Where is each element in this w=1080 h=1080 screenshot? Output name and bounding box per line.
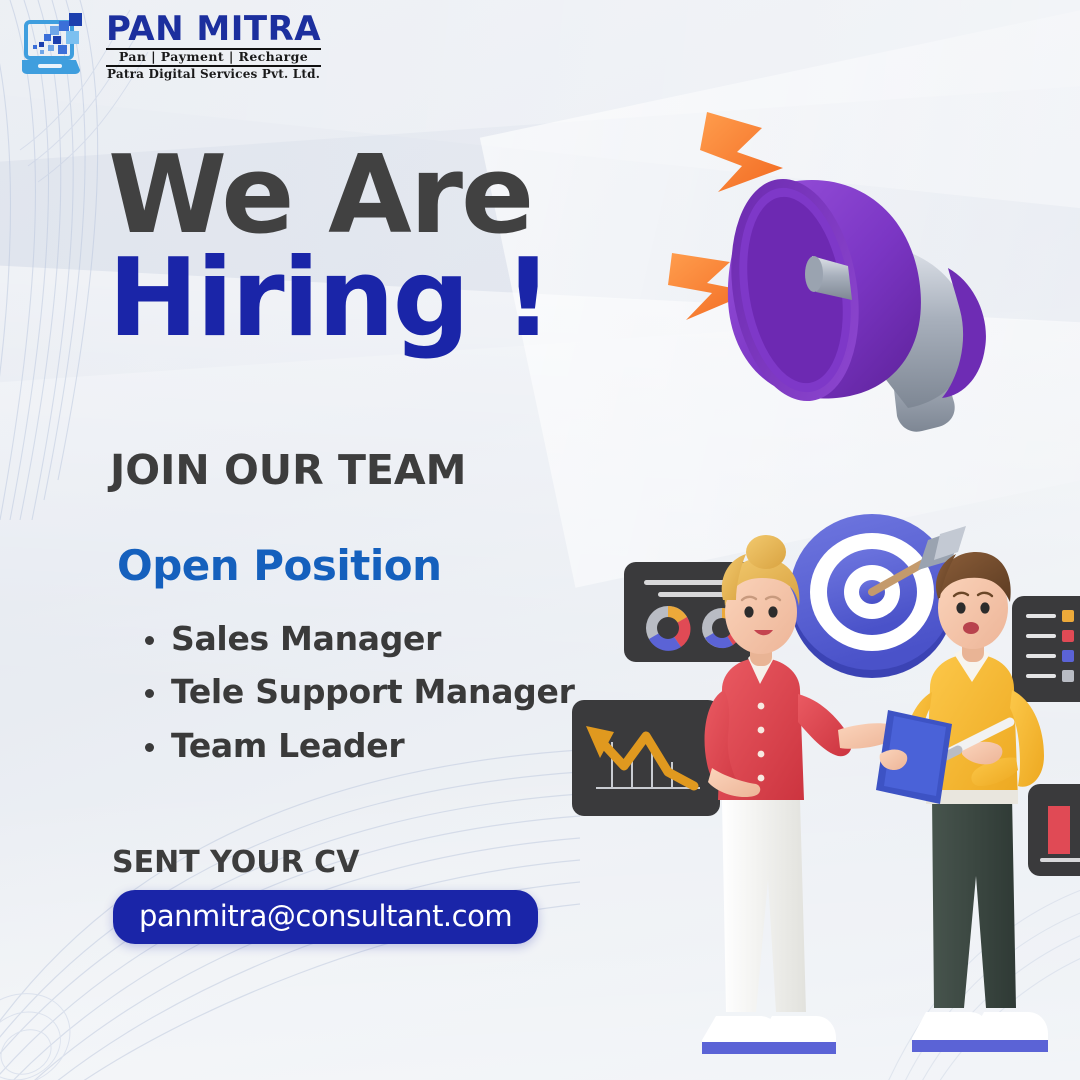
list-item: Tele Support Manager xyxy=(171,665,575,718)
dartboard-target-icon xyxy=(790,514,966,678)
brand-name: PAN MITRA xyxy=(106,12,321,46)
open-position-list: Sales Manager Tele Support Manager Team … xyxy=(135,612,575,772)
woman-character xyxy=(702,535,896,1054)
bar-chart-card xyxy=(1028,784,1080,876)
subheading: JOIN OUR TEAM xyxy=(110,446,466,494)
list-item: Team Leader xyxy=(171,719,575,772)
open-position-title: Open Position xyxy=(117,541,442,590)
legend-pie-card xyxy=(1012,596,1080,702)
headline-line2: Hiring ! xyxy=(108,245,551,353)
donut-chart-card xyxy=(624,562,754,662)
hiring-poster: PAN MITRA Pan | Payment | Recharge Patra… xyxy=(0,0,1080,1080)
cta-label: SENT YOUR CV xyxy=(112,845,359,880)
man-character xyxy=(876,552,1048,1052)
headline-line1: We Are xyxy=(108,146,551,245)
laptop-pixels-icon xyxy=(22,12,100,80)
list-item: Sales Manager xyxy=(171,612,575,665)
megaphone-icon xyxy=(668,112,986,432)
headline: We Are Hiring ! xyxy=(108,146,551,353)
line-chart-card xyxy=(572,700,720,816)
bg-band xyxy=(480,0,1080,588)
decorative-lines-bottomright xyxy=(810,840,1080,1080)
brand-company: Patra Digital Services Pvt. Ltd. xyxy=(106,68,321,80)
brand-tagline: Pan | Payment | Recharge xyxy=(106,51,321,64)
brand-logo[interactable]: PAN MITRA Pan | Payment | Recharge Patra… xyxy=(22,12,321,80)
contact-email-badge[interactable]: panmitra@consultant.com xyxy=(113,890,538,944)
